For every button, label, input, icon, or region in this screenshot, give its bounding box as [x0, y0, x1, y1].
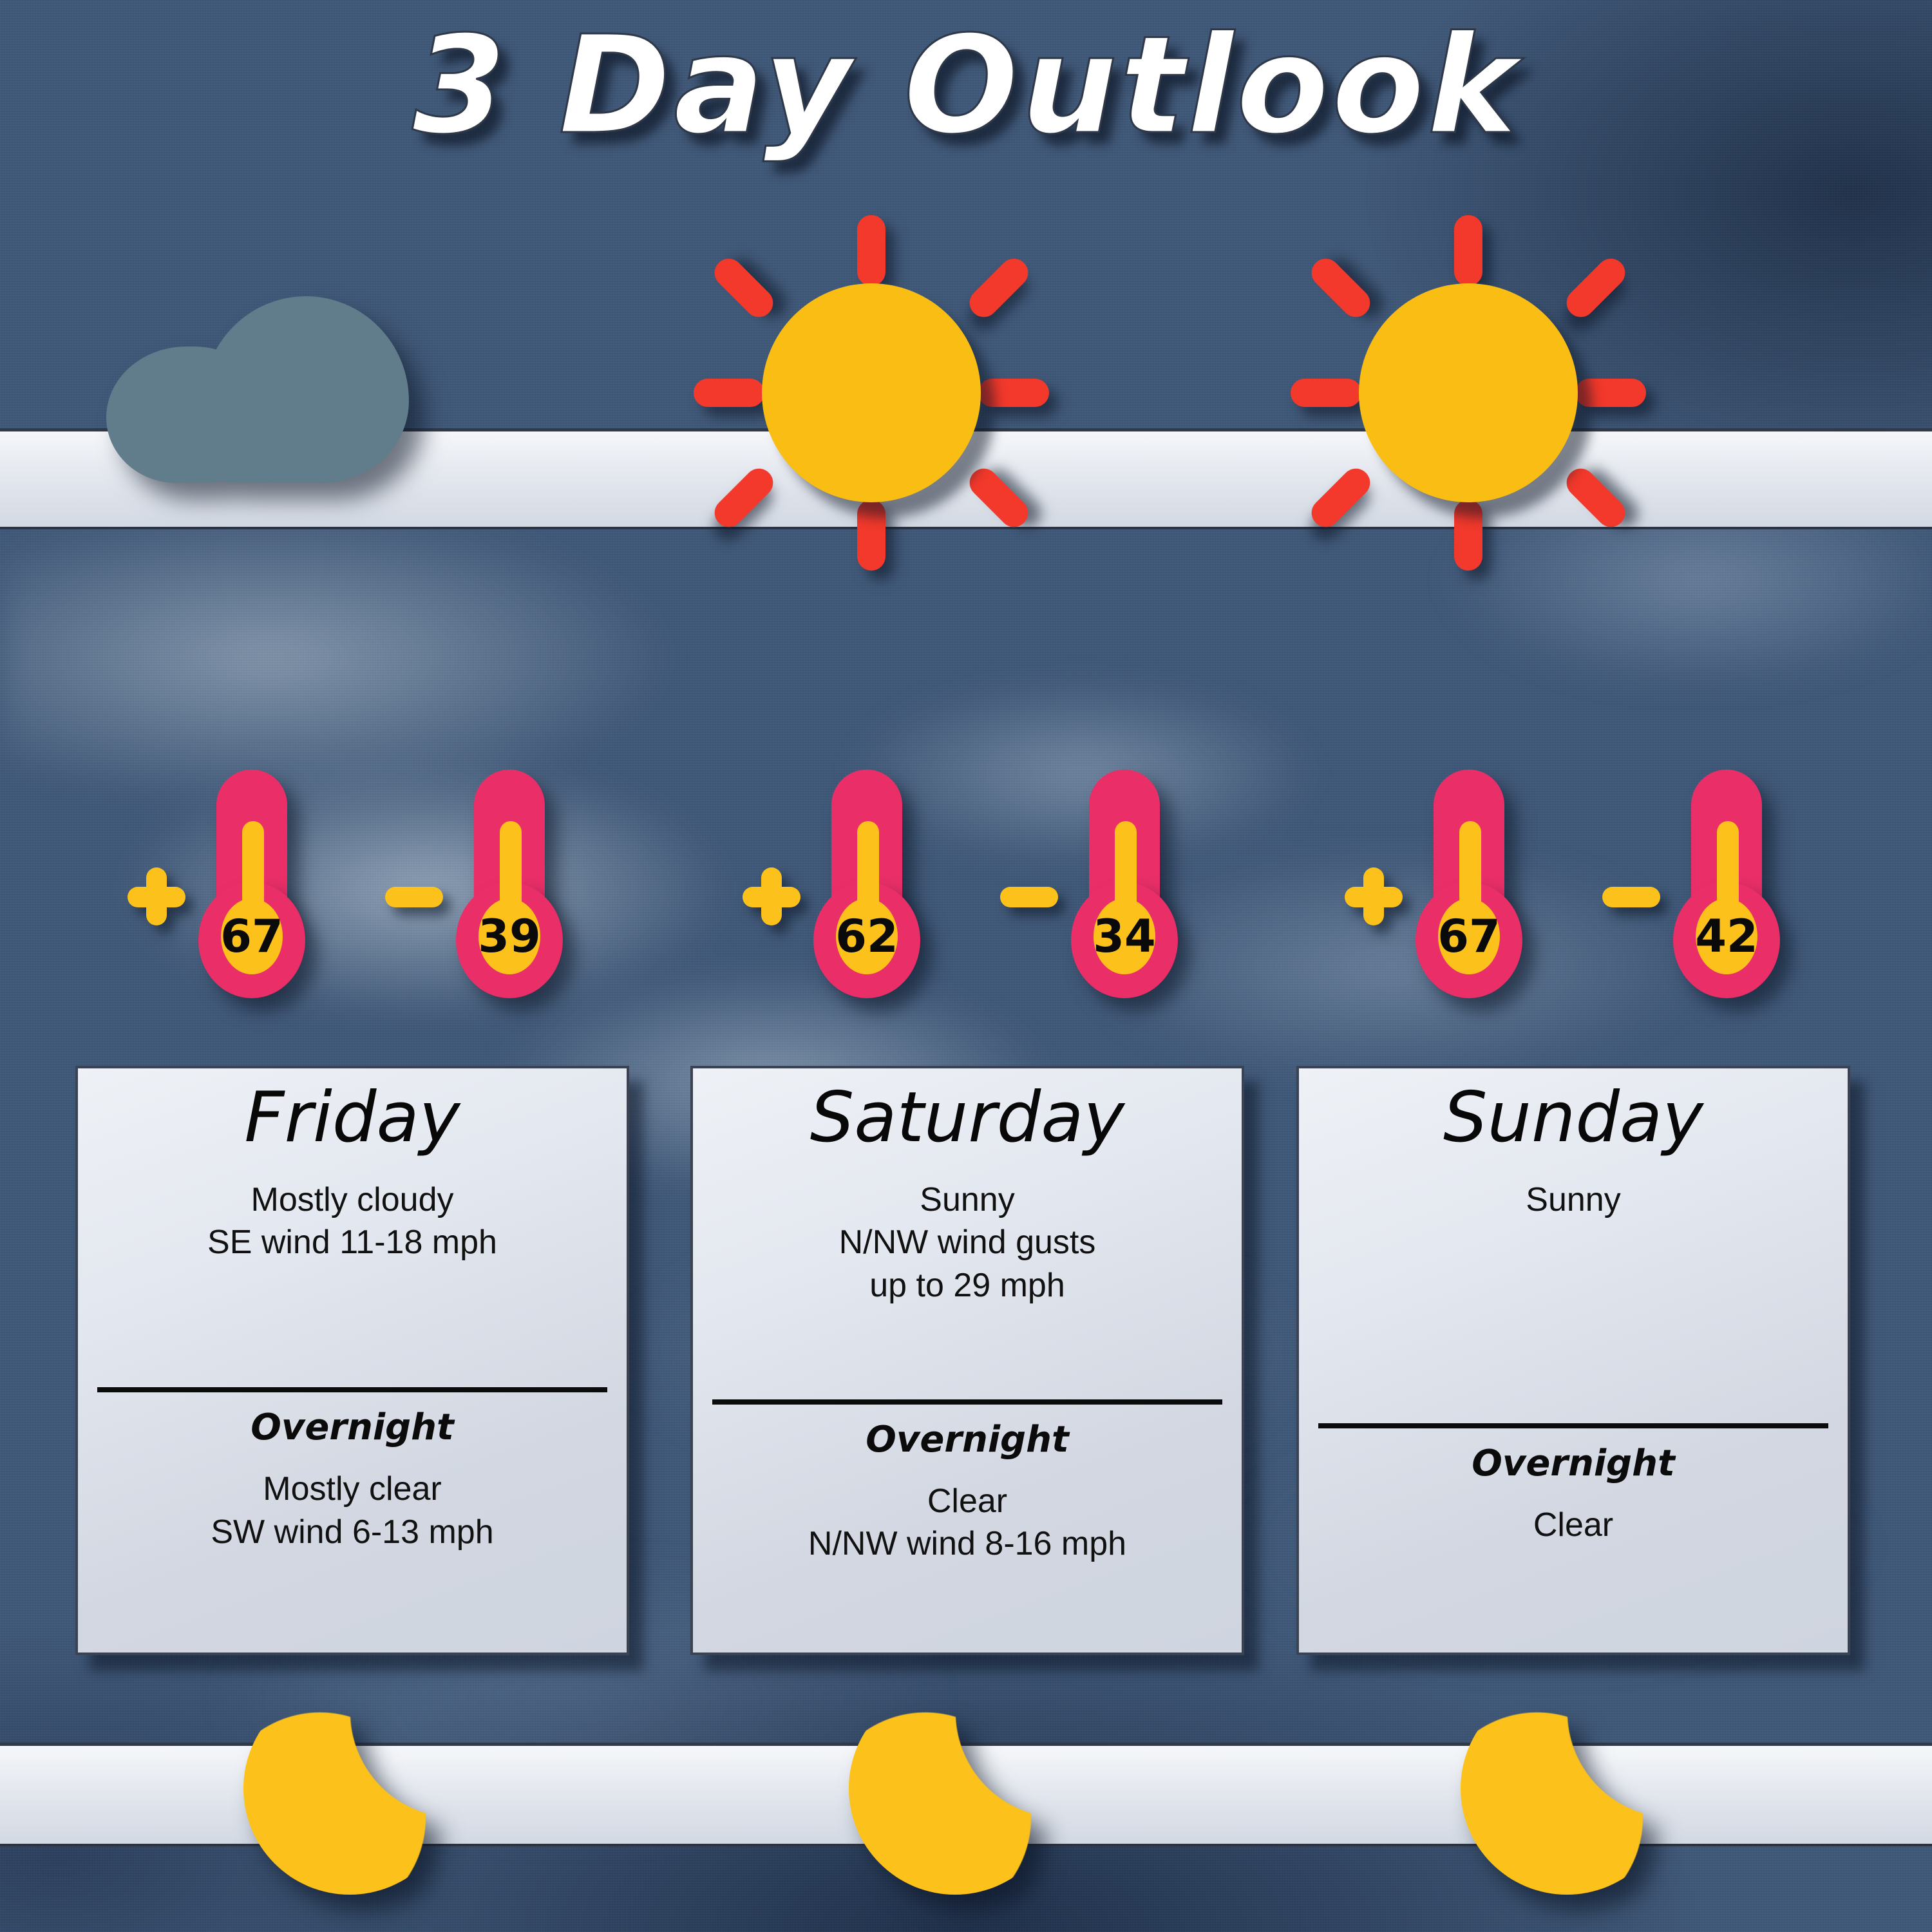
moon-disk: [243, 1682, 456, 1895]
minus-sign-icon: [1602, 867, 1660, 925]
overnight-label: Overnight: [1316, 1443, 1831, 1484]
sun-ray-s: [857, 500, 885, 571]
thermometer-readout: 67: [221, 898, 283, 974]
card-spacer: [95, 1554, 610, 1653]
sun-ray-s: [1454, 500, 1482, 571]
thermometer-high: 62: [802, 770, 950, 1040]
sun-ray-w: [1291, 379, 1361, 407]
low-temp-value: 34: [1093, 914, 1155, 959]
moon-icon: [849, 1682, 1061, 1895]
day-forecast-line: Sunny: [1316, 1179, 1831, 1222]
forecast-card-saturday[interactable]: Saturday Sunny N/NW wind gusts up to 29 …: [690, 1066, 1244, 1655]
thermometer-high: 67: [187, 770, 335, 1040]
sun-ray-ne: [964, 253, 1034, 323]
day-name: Friday: [95, 1080, 610, 1157]
cloud-icon: [106, 296, 409, 483]
card-spacer: [95, 1264, 610, 1363]
sun-ray-se: [964, 463, 1034, 533]
overnight-label: Overnight: [95, 1406, 610, 1448]
moon-icon: [1461, 1682, 1673, 1895]
high-temp-value: 67: [1437, 914, 1500, 959]
overnight-forecast-text: Clear: [1316, 1504, 1831, 1547]
thermometer-readout: 42: [1696, 898, 1757, 974]
sun-icon: [691, 213, 1052, 573]
section-divider-wrap: [95, 1387, 610, 1392]
thermometer-readout: 34: [1094, 898, 1155, 974]
sun-ray-w: [694, 379, 764, 407]
cloud-lump-right: [203, 296, 409, 483]
thermometer-low: 42: [1662, 770, 1810, 1040]
page-title: 3 Day Outlook: [0, 6, 1932, 164]
card-spacer: [710, 1566, 1225, 1653]
moon-icon: [243, 1682, 456, 1895]
overnight-forecast-text: Mostly clear SW wind 6-13 mph: [95, 1468, 610, 1553]
minus-sign-icon: [1000, 867, 1058, 925]
sun-ray-sw: [709, 463, 779, 533]
sun-ray-n: [857, 215, 885, 286]
overnight-label: Overnight: [710, 1419, 1225, 1461]
low-temp-value: 42: [1695, 914, 1757, 959]
high-temp-value: 62: [835, 914, 898, 959]
plus-sign-icon: [743, 867, 800, 925]
moon-disk: [1461, 1682, 1673, 1895]
thermometer-low: 34: [1059, 770, 1207, 1040]
section-divider-wrap: [1316, 1423, 1831, 1428]
card-spacer: [1316, 1547, 1831, 1653]
thermometer-readout: 62: [836, 898, 898, 974]
minus-sign-icon: [385, 867, 443, 925]
section-divider: [1318, 1423, 1828, 1428]
plus-sign-icon: [1345, 867, 1403, 925]
thermometer-high: 67: [1404, 770, 1552, 1040]
plus-sign-icon: [128, 867, 185, 925]
thermometer-low: 39: [444, 770, 592, 1040]
day-name: Sunday: [1316, 1080, 1831, 1157]
section-divider: [712, 1399, 1222, 1405]
day-forecast-text: Mostly cloudy SE wind 11-18 mph: [95, 1179, 610, 1264]
forecast-card-sunday[interactable]: Sunday Sunny Overnight Clear: [1296, 1066, 1850, 1655]
weather-outlook-graphic: 3 Day Outlook: [0, 0, 1932, 1932]
sun-icon: [1288, 213, 1649, 573]
overnight-forecast-line: Clear: [710, 1480, 1225, 1523]
overnight-forecast-line: Clear: [1316, 1504, 1831, 1547]
day-forecast-text: Sunny: [1316, 1179, 1831, 1222]
sun-ray-ne: [1561, 253, 1631, 323]
sun-ray-n: [1454, 215, 1482, 286]
sun-ray-nw: [1306, 253, 1376, 323]
day-forecast-line: up to 29 mph: [710, 1264, 1225, 1307]
thermometer-readout: 67: [1438, 898, 1500, 974]
day-forecast-line: N/NW wind gusts: [710, 1221, 1225, 1264]
day-forecast-line: Sunny: [710, 1179, 1225, 1222]
sun-ray-sw: [1306, 463, 1376, 533]
forecast-card-friday[interactable]: Friday Mostly cloudy SE wind 11-18 mph O…: [75, 1066, 629, 1655]
high-temp-value: 67: [220, 914, 283, 959]
sun-ray-e: [1575, 379, 1646, 407]
card-spacer: [710, 1307, 1225, 1394]
section-divider-wrap: [710, 1399, 1225, 1405]
sun-disk: [762, 283, 981, 502]
card-spacer: [1316, 1221, 1831, 1327]
sun-ray-se: [1561, 463, 1631, 533]
overnight-forecast-text: Clear N/NW wind 8-16 mph: [710, 1480, 1225, 1566]
day-forecast-line: Mostly cloudy: [95, 1179, 610, 1222]
sun-ray-nw: [709, 253, 779, 323]
sun-ray-e: [978, 379, 1049, 407]
overnight-forecast-line: SW wind 6-13 mph: [95, 1511, 610, 1554]
day-forecast-text: Sunny N/NW wind gusts up to 29 mph: [710, 1179, 1225, 1307]
section-divider: [97, 1387, 607, 1392]
overnight-forecast-line: Mostly clear: [95, 1468, 610, 1511]
day-forecast-line: SE wind 11-18 mph: [95, 1221, 610, 1264]
moon-disk: [849, 1682, 1061, 1895]
overnight-forecast-line: N/NW wind 8-16 mph: [710, 1522, 1225, 1566]
low-temp-value: 39: [478, 914, 540, 959]
day-name: Saturday: [710, 1080, 1225, 1157]
sun-disk: [1359, 283, 1578, 502]
thermometer-readout: 39: [478, 898, 540, 974]
